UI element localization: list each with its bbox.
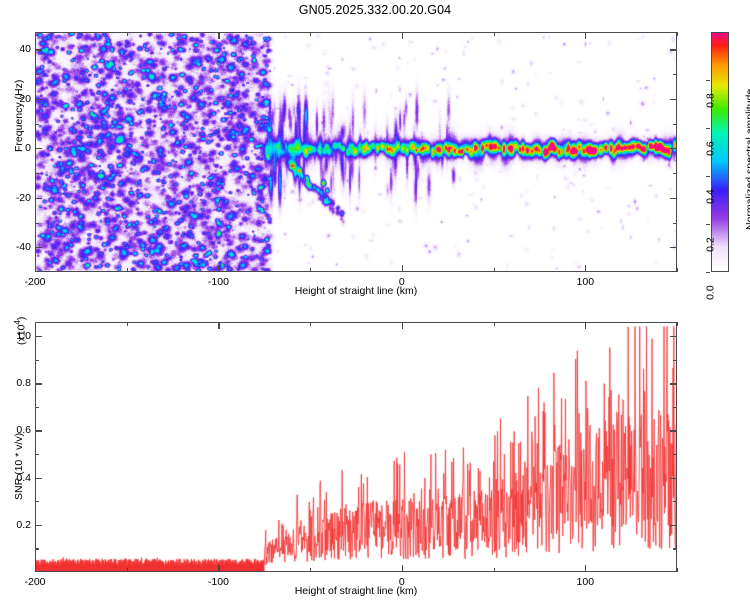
snr-x-tick-top	[218, 322, 219, 329]
snr-y-tick-right	[670, 478, 677, 479]
snr-y-tick	[35, 383, 42, 384]
spectrogram-x-ticklabel: -100	[208, 276, 229, 288]
spectrogram-x-minor-tick-top	[677, 32, 678, 36]
spectrogram-x-minor-tick	[127, 268, 128, 272]
spectrogram-x-tick	[35, 265, 36, 272]
snr-y-tick-right	[670, 336, 677, 337]
snr-x-tick	[218, 565, 219, 572]
spectrogram-y-tick	[35, 247, 42, 248]
spectrogram-y-tick	[35, 49, 42, 50]
colorbar-ticklabel: 0.8	[705, 93, 717, 108]
spectrogram-x-minor-tick-top	[127, 32, 128, 36]
spectrogram-x-minor-tick-top	[494, 32, 495, 36]
snr-x-minor-tick	[494, 568, 495, 572]
snr-x-ticklabel: 100	[577, 576, 595, 588]
snr-trace	[36, 323, 676, 571]
spectrogram-x-ticklabel: 100	[577, 276, 595, 288]
figure-root: GN05.2025.332.00.20.G04 -200-1000100-40-…	[0, 0, 750, 600]
spectrogram-x-minor-tick	[494, 268, 495, 272]
colorbar-ticklabel: 0.0	[705, 285, 717, 300]
snr-y-minor-tick	[35, 360, 39, 361]
colorbar-tick	[706, 272, 710, 273]
spectrogram-y-minor-tick	[35, 124, 39, 125]
spectrogram-y-axis-label: Frequency (Hz)	[13, 80, 25, 152]
spectrogram-y-tick	[35, 99, 42, 100]
spectrogram-y-ticklabel: -40	[3, 241, 31, 253]
page-title: GN05.2025.332.00.20.G04	[0, 3, 750, 17]
snr-x-ticklabel: -200	[24, 576, 45, 588]
colorbar-tick	[706, 224, 710, 225]
spectrogram-y-minor-tick-right	[673, 223, 677, 224]
snr-y-tick	[35, 525, 42, 526]
snr-y-minor-tick-right	[673, 360, 677, 361]
snr-y-tick	[35, 478, 42, 479]
colorbar-tick	[706, 80, 710, 81]
colorbar-ticklabel: 0.4	[705, 189, 717, 204]
snr-y-minor-tick-right	[673, 454, 677, 455]
spectrogram-x-tick-top	[402, 32, 403, 39]
snr-y-tick-right	[670, 383, 677, 384]
spectrogram-y-minor-tick	[35, 173, 39, 174]
spectrogram-x-minor-tick	[677, 268, 678, 272]
snr-y-ticklabel: 0.8	[3, 377, 31, 389]
spectrogram-x-axis-label: Height of straight line (km)	[295, 285, 418, 297]
snr-x-minor-tick	[127, 568, 128, 572]
spectrogram-x-minor-tick-top	[310, 32, 311, 36]
colorbar-ticklabel: 0.6	[705, 141, 717, 156]
spectrogram-x-tick-top	[35, 32, 36, 39]
snr-y-tick	[35, 336, 42, 337]
snr-x-minor-tick-top	[494, 322, 495, 326]
spectrogram-y-tick-right	[670, 148, 677, 149]
spectrogram-y-minor-tick-right	[673, 124, 677, 125]
spectrogram-x-tick-top	[585, 32, 586, 39]
snr-x-minor-tick-top	[310, 322, 311, 326]
snr-y-minor-tick	[35, 501, 39, 502]
spectrogram-y-tick	[35, 198, 42, 199]
spectrogram-x-ticklabel: -200	[24, 276, 45, 288]
snr-y-minor-tick	[35, 548, 39, 549]
spectrogram-y-tick-right	[670, 49, 677, 50]
spectrogram-y-ticklabel: 40	[3, 43, 31, 55]
colorbar-ticklabel: 0.2	[705, 237, 717, 252]
snr-y-multiplier: (x104)	[13, 317, 28, 345]
colorbar-tick	[706, 176, 710, 177]
spectrogram-y-minor-tick-right	[673, 74, 677, 75]
spectrogram-y-minor-tick	[35, 223, 39, 224]
snr-y-ticklabel: 0.2	[3, 519, 31, 531]
snr-x-tick	[585, 565, 586, 572]
snr-x-minor-tick	[310, 568, 311, 572]
snr-x-tick-top	[402, 322, 403, 329]
spectrogram-y-ticklabel: -20	[3, 192, 31, 204]
spectrogram-y-tick-right	[670, 198, 677, 199]
spectrogram-y-tick-right	[670, 99, 677, 100]
spectrogram-y-minor-tick	[35, 74, 39, 75]
snr-multiplier-exponent: 4	[13, 320, 22, 324]
colorbar-title: Normalized spectral amplitude	[744, 89, 750, 230]
snr-x-minor-tick	[677, 568, 678, 572]
snr-x-tick	[402, 565, 403, 572]
spectrogram-image	[36, 33, 676, 271]
snr-x-tick	[35, 565, 36, 572]
snr-y-minor-tick	[35, 407, 39, 408]
snr-y-tick-right	[670, 525, 677, 526]
spectrogram-y-tick-right	[670, 247, 677, 248]
snr-y-minor-tick	[35, 454, 39, 455]
snr-y-tick	[35, 430, 42, 431]
snr-y-tick-right	[670, 430, 677, 431]
snr-x-minor-tick-top	[677, 322, 678, 326]
snr-y-axis-label: SNR (10 * v/v)	[13, 433, 25, 500]
snr-x-minor-tick-top	[127, 322, 128, 326]
spectrogram-x-tick	[585, 265, 586, 272]
snr-y-minor-tick-right	[673, 501, 677, 502]
spectrogram-x-tick	[218, 265, 219, 272]
snr-x-ticklabel: -100	[208, 576, 229, 588]
spectrogram-y-tick	[35, 148, 42, 149]
colorbar-tick	[706, 128, 710, 129]
snr-x-axis-label: Height of straight line (km)	[295, 585, 418, 597]
snr-x-tick-top	[35, 322, 36, 329]
spectrogram-y-minor-tick-right	[673, 173, 677, 174]
spectrogram-x-tick-top	[218, 32, 219, 39]
spectrogram-x-tick	[402, 265, 403, 272]
snr-multiplier-close: )	[16, 317, 28, 321]
snr-y-minor-tick-right	[673, 407, 677, 408]
spectrogram-x-minor-tick	[310, 268, 311, 272]
snr-y-minor-tick-right	[673, 548, 677, 549]
snr-multiplier-base: (x10	[16, 325, 28, 345]
snr-x-tick-top	[585, 322, 586, 329]
